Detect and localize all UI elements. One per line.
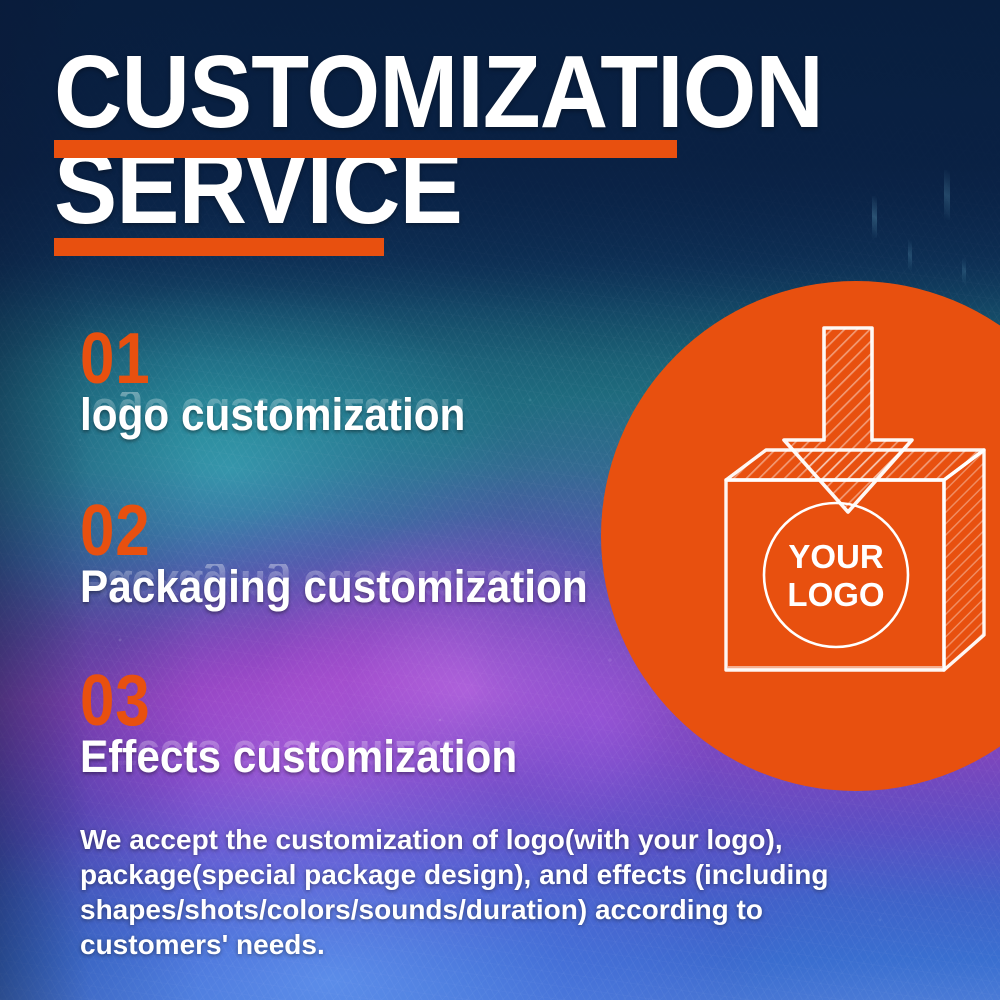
customization-service-banner: CUSTOMIZATION SERVICE 01 logo customizat… [0,0,1000,1000]
orange-circle-backdrop [601,281,1000,791]
customization-illustration: YOUR LOGO [600,280,1000,792]
feature-label-02: Packaging customization [80,564,588,609]
feature-label-01: logo customization [80,392,465,437]
your-logo-text-line-2: LOGO [787,576,884,613]
feature-number-03: 03 [80,668,613,734]
description-paragraph: We accept the customization of logo(with… [80,822,850,962]
title-underline-bar-secondary [54,238,384,256]
title-line-primary: CUSTOMIZATION [54,44,698,140]
your-logo-text-line-1: YOUR [788,538,884,575]
feature-number-01: 01 [80,326,613,392]
feature-label-03: Effects customization [80,734,517,779]
feature-number-02: 02 [80,498,613,564]
title-underline-bar-primary [54,140,677,158]
